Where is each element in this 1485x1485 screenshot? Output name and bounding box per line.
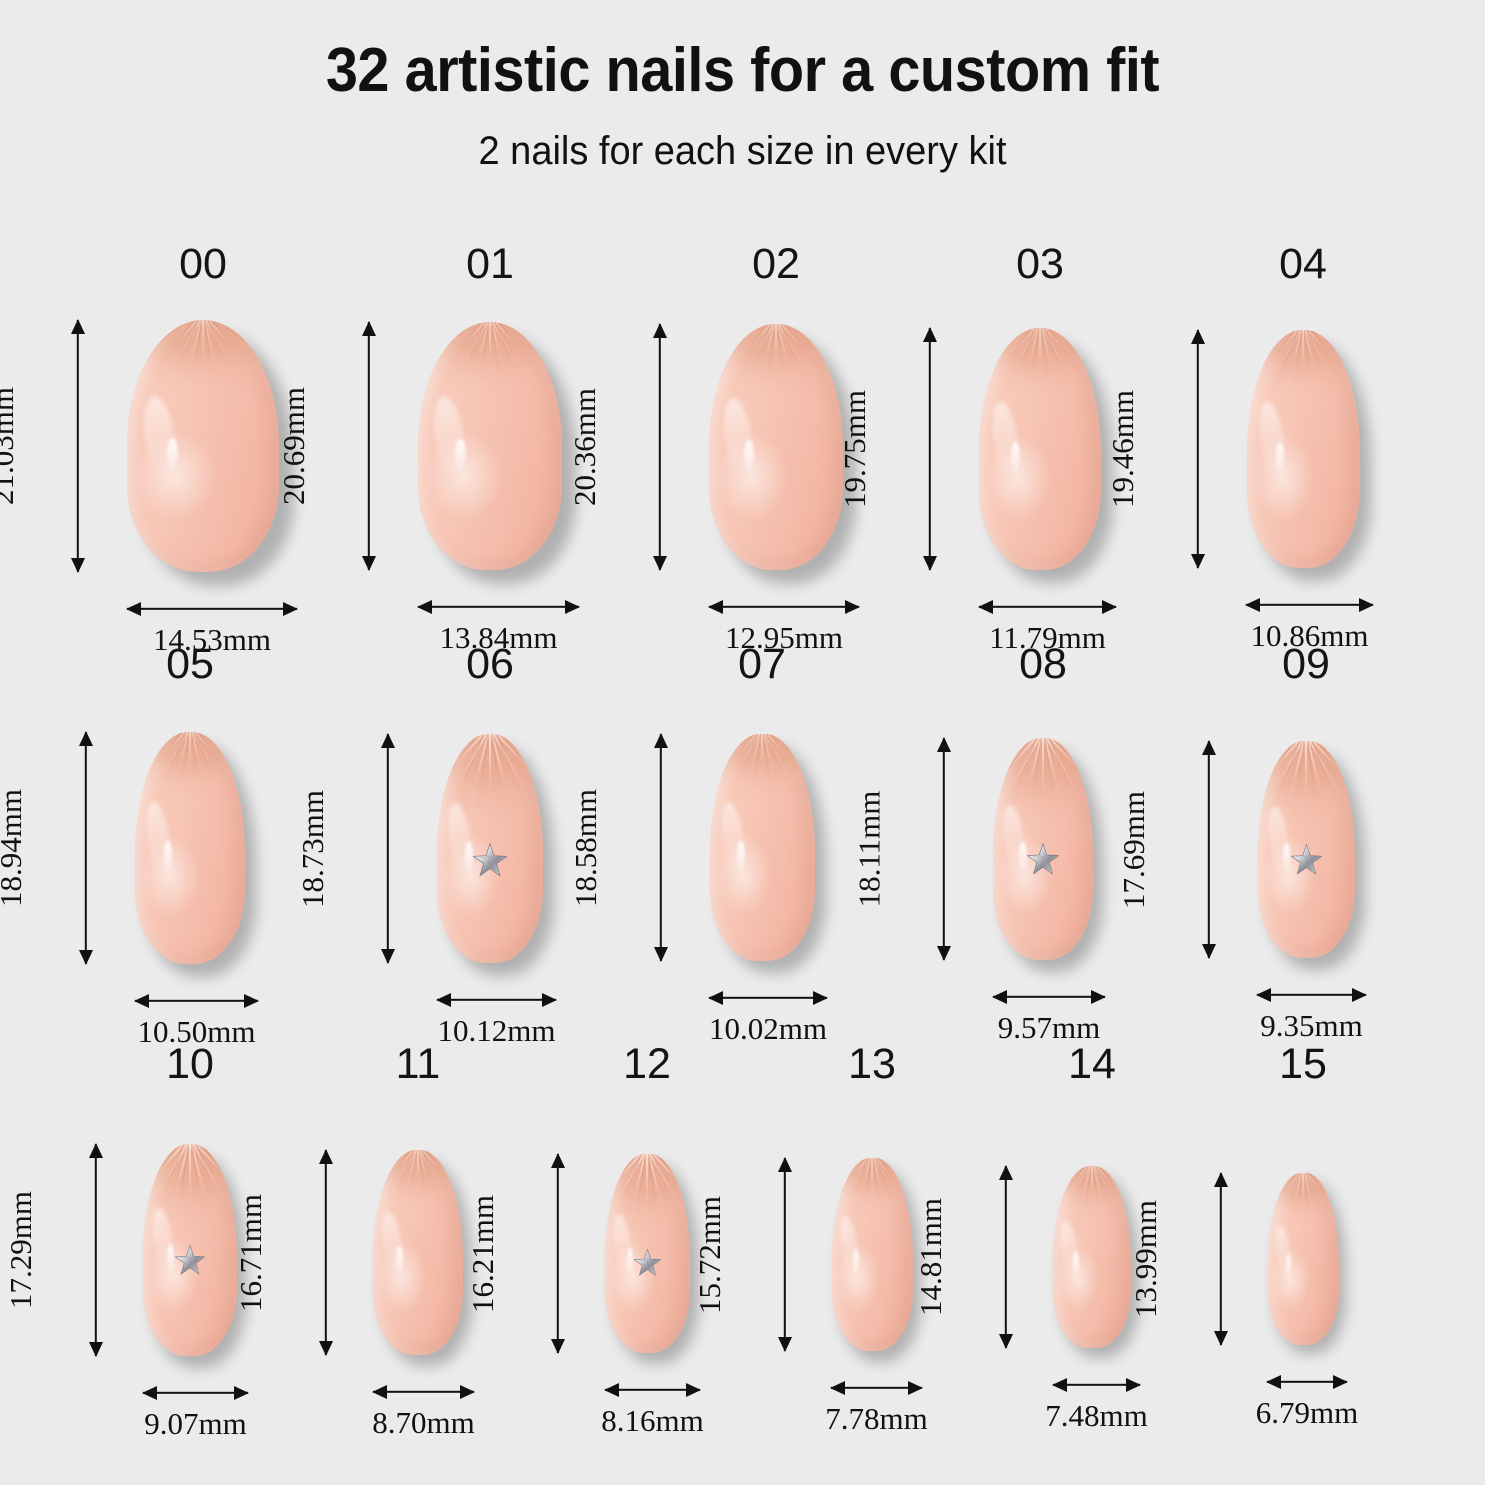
dimension-arrow-vertical-icon: [1202, 944, 1216, 959]
nail-image: [1258, 741, 1355, 958]
length-value: 13.99mm: [1128, 1200, 1164, 1318]
length-dimension: 19.46mm: [1189, 330, 1207, 568]
shell-ray: [1305, 741, 1307, 843]
nail-size-row: 0518.94mm10.50mm0618.73mm10.12mm0718.58m…: [0, 640, 1485, 1035]
dimension-arrow-vertical-icon: [1191, 329, 1205, 344]
page-subtitle: 2 nails for each size in every kit: [37, 129, 1448, 174]
length-dimension: 17.69mm: [1200, 741, 1218, 958]
dimension-arrow-vertical-icon: [1202, 740, 1216, 755]
width-dimension: 6.79mm: [1267, 1373, 1347, 1391]
dimension-line: [1219, 1173, 1221, 1345]
length-dimension: 13.99mm: [1212, 1173, 1230, 1345]
width-value: 9.35mm: [1260, 1008, 1362, 1044]
dimension-line: [1196, 330, 1198, 568]
nail-edge-sheen: [1255, 400, 1289, 483]
dimension-line: [1246, 604, 1373, 606]
dimension-line: [1207, 741, 1209, 958]
width-dimension: 10.86mm: [1246, 596, 1373, 614]
nail-size-number: 04: [1279, 240, 1327, 289]
nail-size-row: 0021.03mm14.53mm0120.69mm13.84mm0220.36m…: [0, 240, 1485, 635]
length-value: 17.69mm: [1116, 791, 1152, 909]
page-header: 32 artistic nails for a custom fit 2 nai…: [0, 0, 1485, 174]
nail-edge-sheen: [1273, 1224, 1295, 1283]
dimension-arrow-vertical-icon: [1214, 1331, 1228, 1346]
nail-size-number: 09: [1282, 640, 1330, 689]
length-value: 19.46mm: [1105, 390, 1141, 508]
dimension-arrow-horizontal-icon: [1256, 988, 1271, 1002]
starfish-charm-icon: [1290, 843, 1323, 876]
nail-size-cell-04[interactable]: 0419.46mm10.86mm: [0, 240, 1485, 635]
nail-size-chart-page: 32 artistic nails for a custom fit 2 nai…: [0, 0, 1485, 1485]
dimension-arrow-horizontal-icon: [1333, 1375, 1348, 1389]
dimension-arrow-horizontal-icon: [1359, 598, 1374, 612]
nail-size-cell-15[interactable]: 1513.99mm6.79mm: [0, 1040, 1485, 1435]
nail-image: [1247, 330, 1360, 568]
dimension-arrow-horizontal-icon: [1266, 1375, 1281, 1389]
nail-size-cell-09[interactable]: 0917.69mm9.35mm: [0, 640, 1485, 1035]
width-dimension: 9.35mm: [1257, 986, 1366, 1004]
dimension-arrow-vertical-icon: [1214, 1172, 1228, 1187]
nail-image: [1268, 1173, 1339, 1345]
shell-glitter-tip-icon: [1268, 1173, 1339, 1231]
nail-body: [1268, 1173, 1339, 1345]
nail-size-row: 1017.29mm9.07mm1116.71mm8.70mm1216.21mm8…: [0, 1040, 1485, 1435]
page-title: 32 artistic nails for a custom fit: [52, 38, 1433, 103]
nail-size-number: 15: [1279, 1040, 1327, 1089]
dimension-arrow-horizontal-icon: [1352, 988, 1367, 1002]
nail-body: [1247, 330, 1360, 568]
nail-body: [1258, 741, 1355, 958]
width-value: 6.79mm: [1256, 1395, 1358, 1431]
shell-ray: [1302, 330, 1304, 406]
dimension-arrow-vertical-icon: [1191, 554, 1205, 569]
dimension-line: [1257, 994, 1366, 996]
dimension-arrow-horizontal-icon: [1245, 598, 1260, 612]
shell-glitter-tip-icon: [1247, 330, 1360, 411]
